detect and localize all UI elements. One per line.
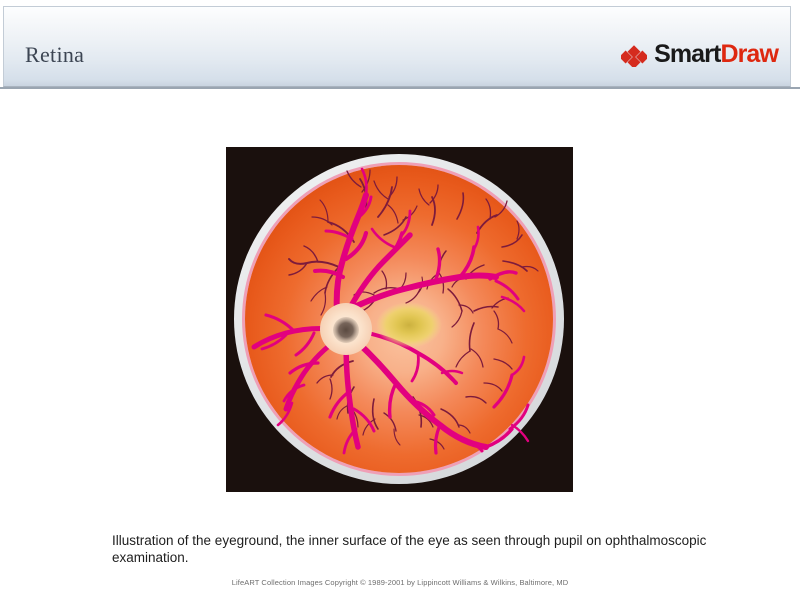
brand-name-draw: Draw <box>720 40 778 68</box>
optic-cup <box>333 317 359 343</box>
header-divider <box>0 87 800 89</box>
brand-name-smart: Smart <box>654 40 720 68</box>
retina-fundus-illustration <box>226 147 573 492</box>
illustration-caption: Illustration of the eyeground, the inner… <box>112 532 712 566</box>
macula <box>376 302 442 348</box>
copyright-notice: LifeART Collection Images Copyright © 19… <box>0 578 800 587</box>
smartdraw-logo[interactable]: SmartDraw <box>621 42 778 67</box>
page-title: Retina <box>25 42 84 68</box>
smartdraw-wordmark: SmartDraw <box>654 42 778 67</box>
retina-illustration-panel <box>226 147 573 492</box>
smartdraw-diamond-icon <box>621 43 647 67</box>
